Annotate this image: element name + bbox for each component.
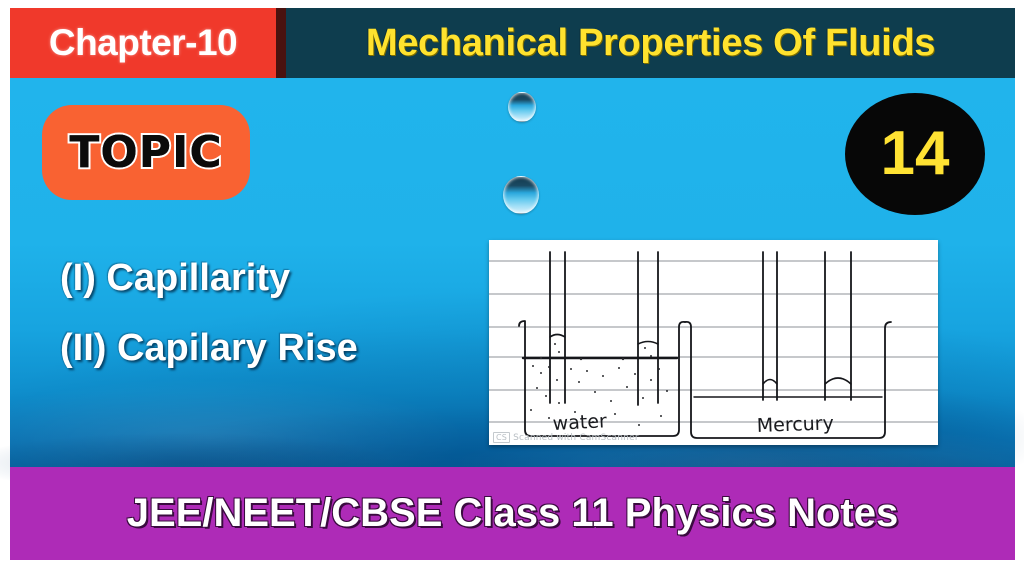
page-title: Mechanical Properties Of Fluids [366,22,935,65]
capillarity-diagram: water Mercury CS Scanned with CamScanner [489,240,938,445]
header-bar: Chapter-10 Mechanical Properties Of Flui… [10,8,1015,78]
camscanner-text: Scanned with CamScanner [513,433,639,443]
chapter-badge: Chapter-10 [10,8,276,78]
camscanner-badge: CS [493,432,510,443]
topic-list-item-1: (I) Capillarity [60,252,490,304]
water-droplet-small-icon [508,92,536,122]
topic-badge-label: TOPIC [69,127,222,178]
camscanner-watermark: CS Scanned with CamScanner [493,432,639,443]
footer-banner: JEE/NEET/CBSE Class 11 Physics Notes [10,467,1015,560]
diagram-label-mercury: Mercury [756,412,834,437]
topic-number-badge: 14 [845,93,985,215]
water-droplet-large-icon [503,176,539,214]
header-divider [276,8,286,78]
topic-list: (I) Capillarity (II) Capilary Rise [60,252,490,374]
chapter-label: Chapter-10 [49,22,237,64]
footer-text: JEE/NEET/CBSE Class 11 Physics Notes [127,491,898,536]
topic-number-value: 14 [881,123,950,185]
title-bar: Mechanical Properties Of Fluids [286,8,1015,78]
topic-list-item-2: (II) Capilary Rise [60,322,490,374]
capillarity-diagram-svg: water Mercury [489,240,938,445]
topic-badge: TOPIC [42,105,250,200]
slide-canvas: Chapter-10 Mechanical Properties Of Flui… [0,0,1024,571]
